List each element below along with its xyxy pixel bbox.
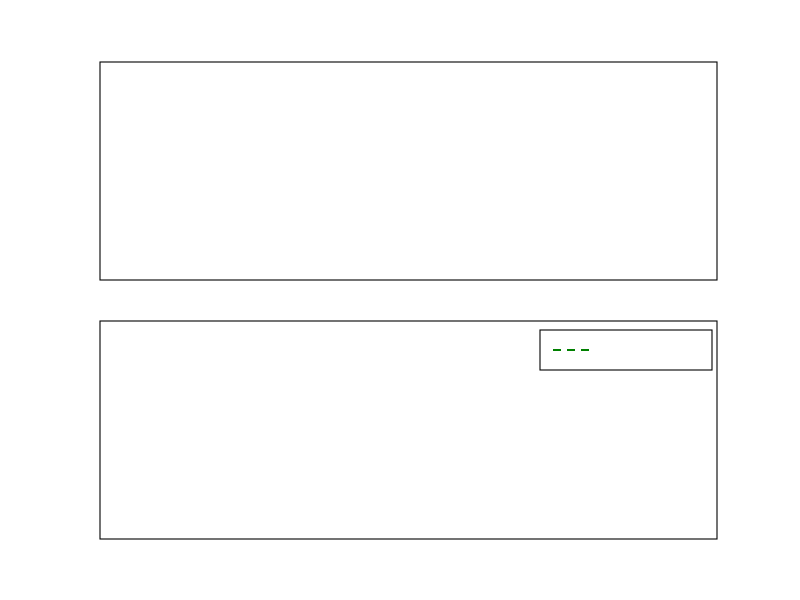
top-panel-axes (100, 62, 717, 280)
legend[interactable] (540, 330, 712, 370)
matplotlib-figure (0, 0, 800, 600)
top-panel-frame (100, 62, 717, 280)
figure-canvas (0, 0, 800, 600)
legend-frame (540, 330, 712, 370)
